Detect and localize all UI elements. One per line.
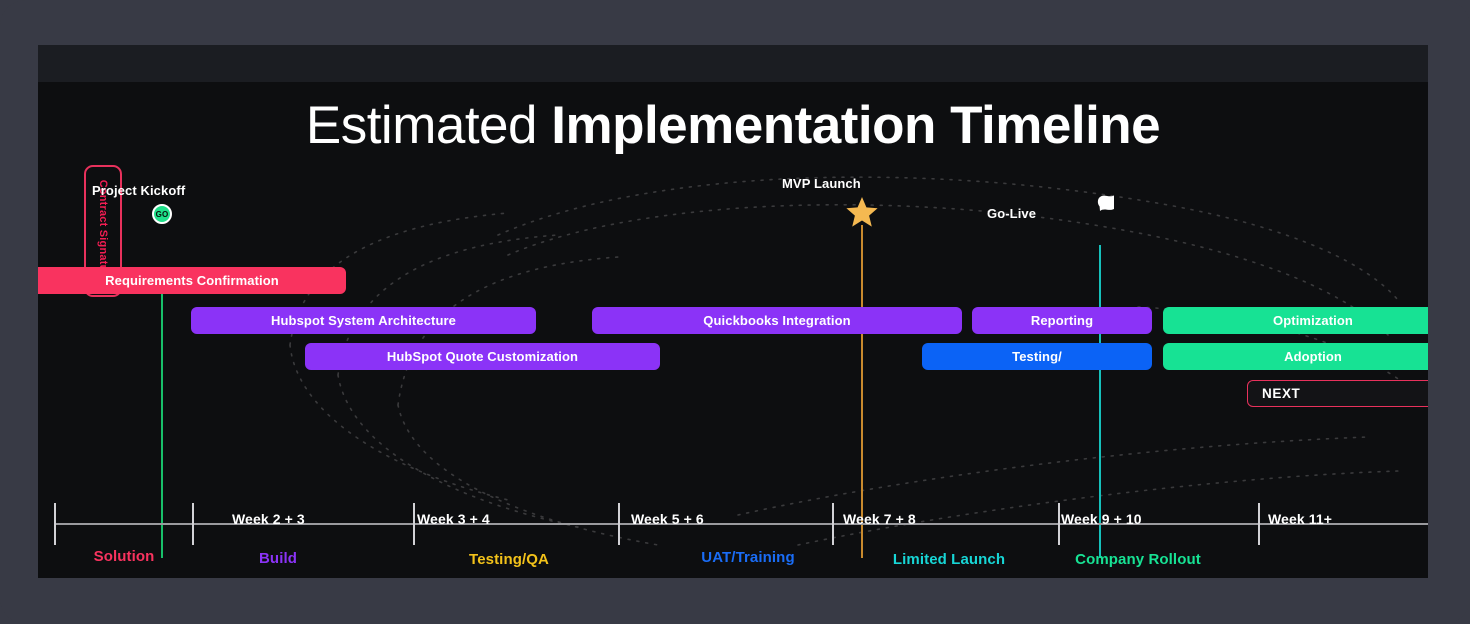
axis-tick bbox=[1258, 503, 1260, 545]
task-bar-reporting[interactable]: Reporting bbox=[972, 307, 1152, 334]
axis-tick bbox=[832, 503, 834, 545]
phase-label-uat-training: UAT/Training bbox=[668, 549, 828, 566]
axis-week-label: Week 3 + 4 bbox=[417, 511, 490, 527]
page-title: Estimated Implementation Timeline bbox=[38, 95, 1428, 157]
milestone-line-project-kickoff bbox=[161, 269, 163, 558]
task-bar-label: Testing/ bbox=[1012, 349, 1062, 364]
axis-tick bbox=[54, 503, 56, 545]
timeline-canvas: Estimated Implementation Timeline Contra… bbox=[38, 45, 1428, 578]
task-bar-label: Hubspot System Architecture bbox=[271, 313, 456, 328]
milestone-line-mvp-launch bbox=[861, 225, 863, 558]
task-bar-label: Reporting bbox=[1031, 313, 1093, 328]
star-icon bbox=[845, 195, 879, 229]
title-bold-part: Implementation Timeline bbox=[551, 96, 1160, 155]
task-bar-requirements-confirmation[interactable]: Requirements Confirmation bbox=[38, 267, 346, 294]
task-bar-hubspot-system-architecture[interactable]: Hubspot System Architecture bbox=[191, 307, 536, 334]
flag-icon bbox=[1084, 193, 1118, 223]
task-bar-testing[interactable]: Testing/ bbox=[922, 343, 1152, 370]
task-bar-label: Requirements Confirmation bbox=[105, 273, 279, 288]
next-box-label: NEXT bbox=[1262, 386, 1300, 401]
axis-week-label: Week 5 + 6 bbox=[631, 511, 704, 527]
axis-tick bbox=[1058, 503, 1060, 545]
phase-label-company-rollout: Company Rollout bbox=[1058, 551, 1218, 568]
milestone-label-go-live: Go-Live bbox=[987, 206, 1036, 221]
phase-label-testing-qa: Testing/QA bbox=[429, 551, 589, 568]
axis-week-label: Week 11+ bbox=[1268, 511, 1332, 527]
task-bar-label: Optimization bbox=[1273, 313, 1353, 328]
title-light-part: Estimated bbox=[306, 96, 551, 155]
timeline-page: Estimated Implementation Timeline Contra… bbox=[0, 0, 1470, 624]
axis-tick bbox=[618, 503, 620, 545]
axis-tick bbox=[413, 503, 415, 545]
go-badge-icon: GO bbox=[152, 204, 172, 224]
task-bar-adoption[interactable]: Adoption bbox=[1163, 343, 1428, 370]
task-bar-optimization[interactable]: Optimization bbox=[1163, 307, 1428, 334]
milestone-label-mvp-launch: MVP Launch bbox=[782, 176, 861, 191]
task-bar-label: HubSpot Quote Customization bbox=[387, 349, 578, 364]
phase-label-solution: Solution bbox=[38, 548, 210, 565]
axis-tick bbox=[192, 503, 194, 545]
milestone-label-project-kickoff: Project Kickoff bbox=[92, 183, 185, 198]
phase-label-build: Build bbox=[198, 550, 358, 567]
axis-week-label: Week 2 + 3 bbox=[232, 511, 305, 527]
task-bar-label: Quickbooks Integration bbox=[703, 313, 850, 328]
phase-label-limited-launch: Limited Launch bbox=[869, 551, 1029, 568]
canvas-top-strip bbox=[38, 45, 1428, 82]
task-bar-hubspot-quote-customization[interactable]: HubSpot Quote Customization bbox=[305, 343, 660, 370]
next-box[interactable]: NEXT bbox=[1247, 380, 1428, 407]
task-bar-quickbooks-integration[interactable]: Quickbooks Integration bbox=[592, 307, 962, 334]
axis-week-label: Week 9 + 10 bbox=[1061, 511, 1142, 527]
task-bar-label: Adoption bbox=[1284, 349, 1342, 364]
axis-week-label: Week 7 + 8 bbox=[843, 511, 916, 527]
